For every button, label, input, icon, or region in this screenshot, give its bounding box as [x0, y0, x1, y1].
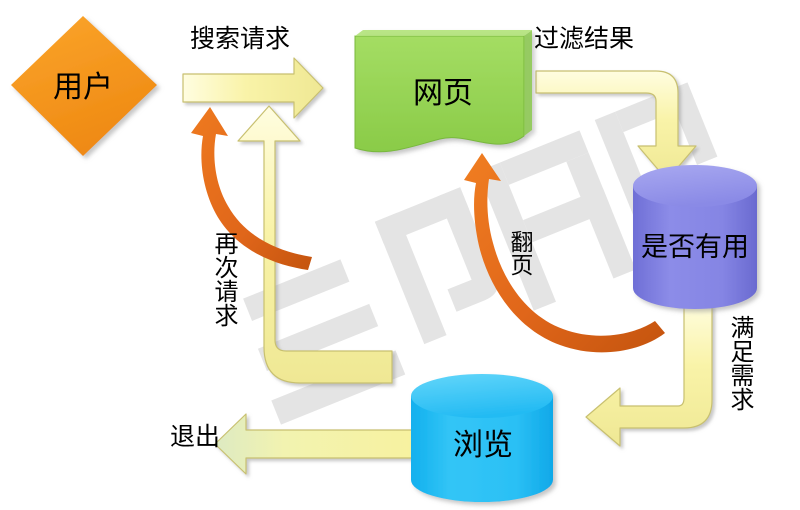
edge-label-exit: 退出 [170, 425, 220, 451]
edge-label-turnpage: 翻页 [508, 230, 531, 276]
node-user-label: 用户 [31, 62, 135, 106]
edge-label-satisfy: 满足需求 [727, 315, 751, 411]
edge-label-reagain: 再次请求 [211, 231, 235, 327]
node-browse-label: 浏览 [420, 420, 546, 464]
edge-label-filter: 过滤结果 [534, 27, 634, 53]
node-page-label: 网页 [378, 68, 508, 112]
edge-label-search: 搜索请求 [190, 27, 290, 53]
node-useful-label: 是否有用 [630, 225, 760, 264]
flowchart-canvas: 用户 网页 是否有用 浏览 搜索请求 过滤结果 满足需求 退出 再次请求 翻页 [0, 0, 800, 510]
